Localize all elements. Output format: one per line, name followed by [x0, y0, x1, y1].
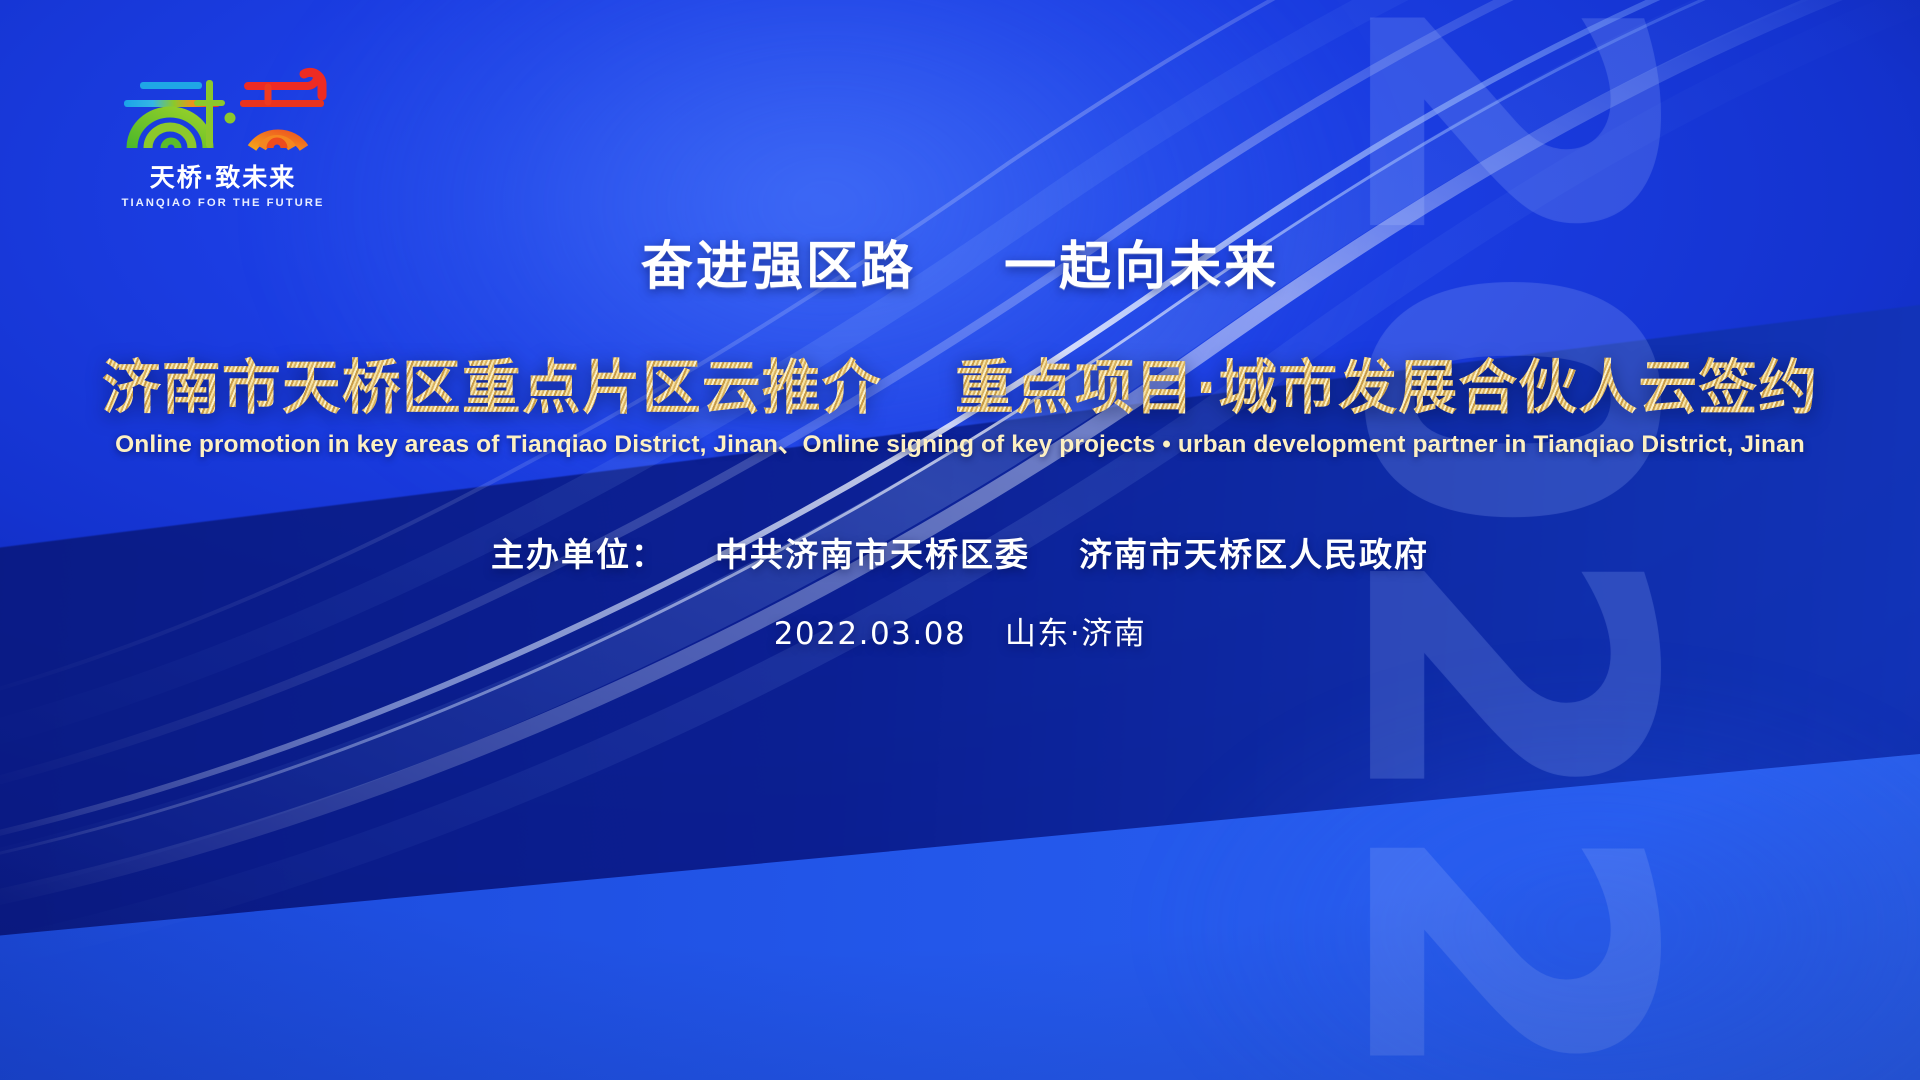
host-org-1: 中共济南市天桥区委	[715, 535, 1030, 574]
host-org-2: 济南市天桥区人民政府	[1079, 535, 1429, 574]
main-title-part-1: 济南市天桥区重点片区云推介	[102, 353, 882, 422]
slogan-line: 奋进强区路 一起向未来	[0, 224, 1920, 299]
slogan-part-1: 奋进强区路	[641, 236, 916, 297]
page-title: 济南市天桥区重点片区云推介 重点项目·城市发展合伙人云签约	[0, 340, 1920, 425]
event-location: 山东·济南	[1005, 616, 1146, 652]
event-date: 2022.03.08	[774, 616, 967, 652]
host-organizations: 主办单位： 中共济南市天桥区委 济南市天桥区人民政府	[0, 528, 1920, 576]
subtitle-english: Online promotion in key areas of Tianqia…	[0, 425, 1920, 460]
main-title-part-2: 重点项目·城市发展合伙人云签约	[955, 353, 1818, 422]
event-dateline: 2022.03.08 山东·济南	[0, 608, 1920, 653]
slogan-part-2: 一起向未来	[1004, 236, 1279, 297]
poster-content: 奋进强区路 一起向未来 济南市天桥区重点片区云推介 重点项目·城市发展合伙人云签…	[0, 0, 1920, 1080]
poster-canvas: 2022	[0, 0, 1920, 1080]
hosts-label: 主办单位：	[491, 535, 666, 574]
